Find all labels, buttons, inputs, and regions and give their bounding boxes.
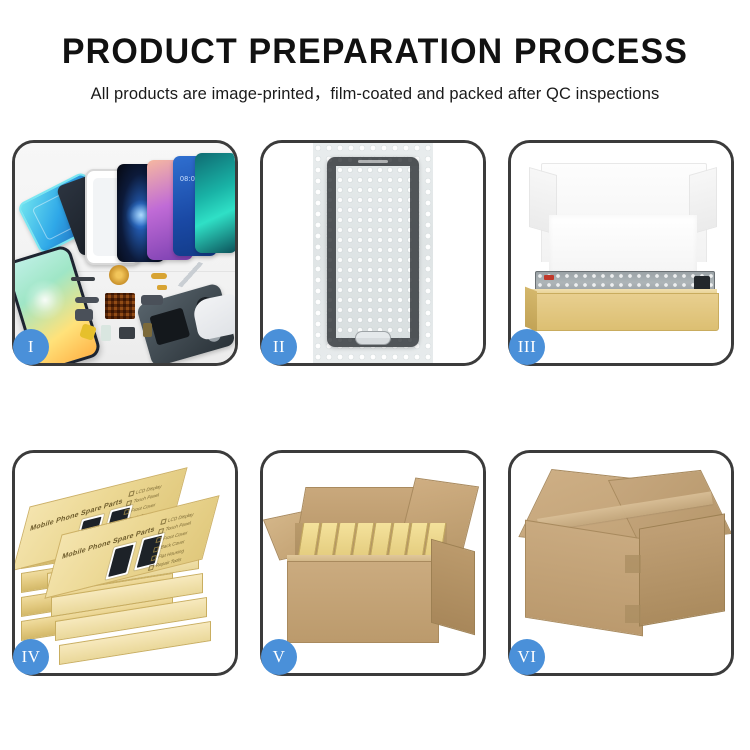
home-button-cutout [355,331,391,345]
carton-side-face [431,539,475,636]
page-subtitle: All products are image-printed，film-coat… [0,80,750,104]
flex-cable-b [75,309,93,321]
retail-box-stack: Mobile Phone Spare Parts LCD Display Tou… [17,465,233,665]
open-kraft-box [525,163,721,333]
process-step-grid: 08:08 [12,140,738,676]
step-badge-6: VI [509,639,545,675]
step-1-image: 08:08 [15,143,235,363]
page-title: PRODUCT PREPARATION PROCESS [11,34,739,71]
screw-tray [105,293,135,319]
step-3-image [511,143,731,363]
step-5-image [263,453,483,673]
step-badge-3: III [509,329,545,365]
process-step-5: V [260,450,486,676]
teal-swirl-phone [195,153,235,253]
sim-tray [101,325,111,341]
step-badge-4: IV [13,639,49,675]
foam-padding [549,215,697,277]
carton-side-face [639,513,725,626]
box-thumbnail-front [104,541,137,581]
step-badge-2: II [261,329,297,365]
product-preparation-infographic: PRODUCT PREPARATION PROCESS All products… [0,0,750,750]
open-shipping-carton [271,475,475,653]
wrapped-screen-glass [327,157,419,347]
yellow-tool [79,323,97,341]
step-2-image [263,143,483,363]
sealed-shipping-carton [525,477,723,647]
process-step-2: II [260,140,486,366]
header: PRODUCT PREPARATION PROCESS All products… [0,0,750,104]
carton-tab-lower [625,605,641,623]
process-step-1: 08:08 [12,140,238,366]
carton-front-face [287,561,439,643]
process-step-6: VI [508,450,734,676]
carton-tab-upper [625,555,641,573]
step-badge-5: V [261,639,297,675]
battery-cell [143,323,152,337]
process-step-4: Mobile Phone Spare Parts LCD Display Tou… [12,450,238,676]
speaker-coil [109,265,129,285]
box-front-face [531,293,719,331]
gold-contact [157,285,167,290]
connector-strip [71,277,95,281]
box-side-face [525,287,537,332]
red-label [544,275,554,280]
process-step-3: III [508,140,734,366]
step-badge-1: I [13,329,49,365]
vibrator-module [119,327,135,339]
flex-cable-c [141,295,163,305]
step-6-image [511,453,731,673]
step-4-image: Mobile Phone Spare Parts LCD Display Tou… [15,453,235,673]
flex-cable-a [75,297,99,303]
earpiece-slot [358,160,388,163]
